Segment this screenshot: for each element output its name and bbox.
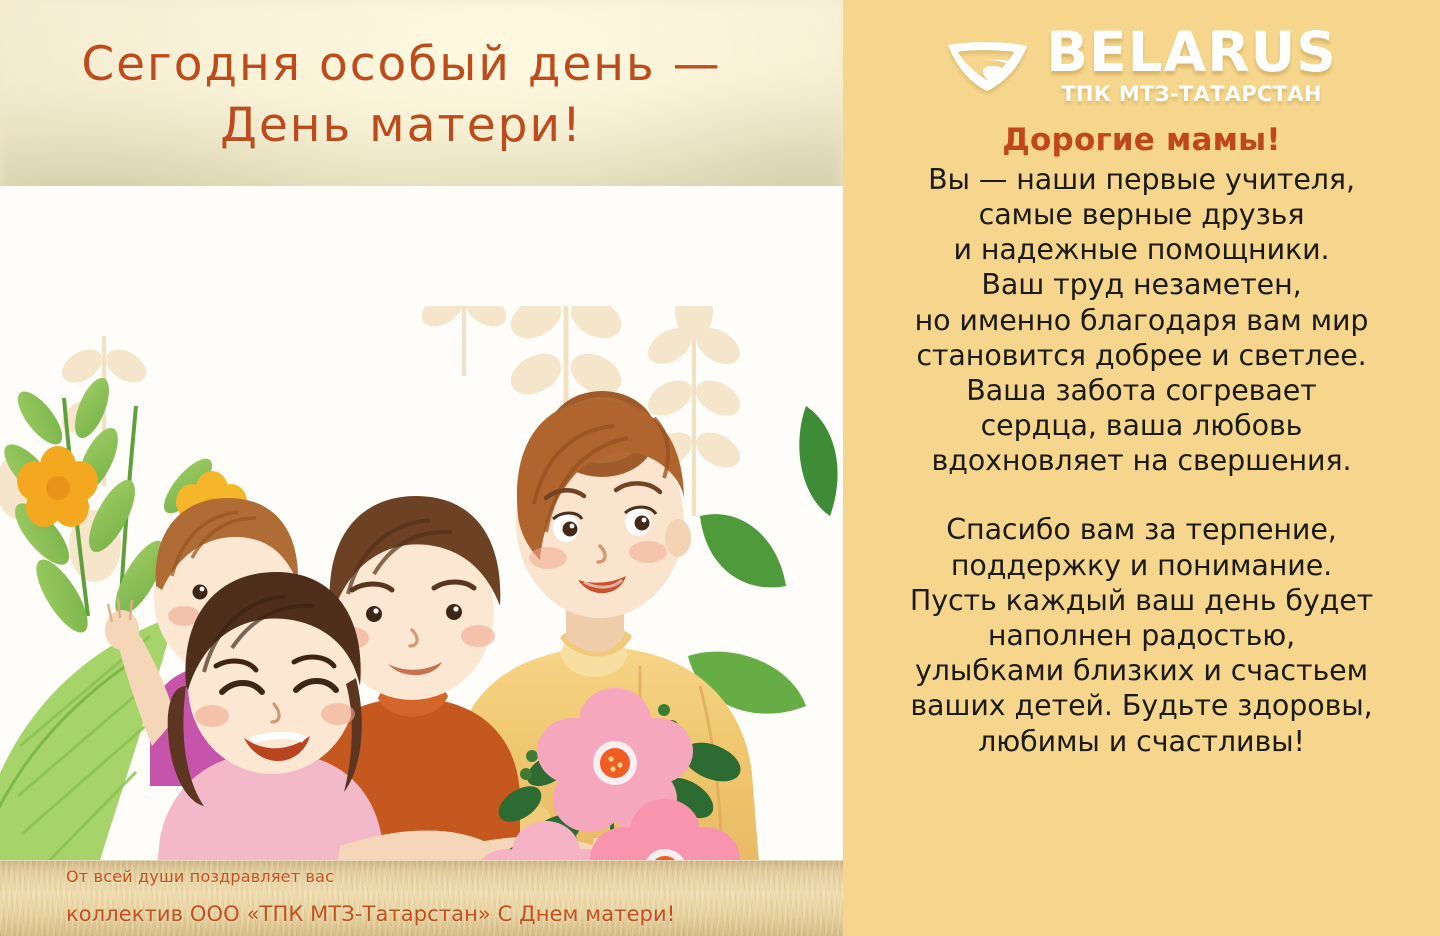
caption-line-2: коллектив ООО «ТПК МТЗ-Татарстан» С Днем… [66, 904, 843, 925]
watercolour-artwork [0, 186, 843, 876]
message-line: сердца, ваша любовь [861, 408, 1422, 443]
message-line: вдохновляет на свершения. [861, 443, 1422, 478]
title-line-2: День матери! [0, 95, 803, 156]
message-line: Спасибо вам за терпение, [861, 512, 1422, 547]
brand-lockup: BELARUS ТПК МТЗ-ТАТАРСТАН [946, 26, 1337, 106]
mothers-day-greeting-card: Сегодня особый день — День матери! [0, 0, 1440, 936]
message-line: наполнен радостью, [861, 618, 1422, 653]
message-heading: Дорогие мамы! [1002, 122, 1281, 158]
message-line: ваших детей. Будьте здоровы, [861, 688, 1422, 723]
message-line: но именно благодаря вам мир [861, 303, 1422, 338]
brand-name: BELARUS [1046, 26, 1337, 79]
message-line: становится добрее и светлее. [861, 338, 1422, 373]
title-line-1: Сегодня особый день — [81, 37, 721, 92]
message-paragraph-1: Вы — наши первые учителя, самые верные д… [861, 162, 1422, 479]
paragraph-spacer [861, 478, 1422, 512]
message-panel: BELARUS ТПК МТЗ-ТАТАРСТАН Дорогие мамы! … [843, 0, 1440, 936]
brand-subtitle: ТПК МТЗ-ТАТАРСТАН [1061, 82, 1321, 106]
message-body: Вы — наши первые учителя, самые верные д… [861, 162, 1422, 759]
belarus-swoosh-logo-icon [946, 39, 1030, 93]
message-line: Ваша забота согревает [861, 373, 1422, 408]
page-title: Сегодня особый день — День матери! [0, 34, 843, 156]
brand-text: BELARUS ТПК МТЗ-ТАТАРСТАН [1046, 26, 1337, 106]
message-line: улыбками близких и счастьем [861, 653, 1422, 688]
message-line: любимы и счастливы! [861, 724, 1422, 759]
message-line: Пусть каждый ваш день будет [861, 583, 1422, 618]
message-paragraph-2: Спасибо вам за терпение, поддержку и пон… [861, 512, 1422, 758]
message-line: и надежные помощники. [861, 232, 1422, 267]
caption-line-1: От всей души поздравляет вас [66, 869, 843, 885]
caption-band: От всей души поздравляет вас коллектив О… [0, 860, 843, 936]
illustration-panel: Сегодня особый день — День матери! [0, 0, 843, 936]
message-line: поддержку и понимание. [861, 548, 1422, 583]
message-line: самые верные друзья [861, 197, 1422, 232]
message-line: Вы — наши первые учителя, [861, 162, 1422, 197]
family-illustration [0, 186, 843, 876]
message-line: Ваш труд незаметен, [861, 267, 1422, 302]
